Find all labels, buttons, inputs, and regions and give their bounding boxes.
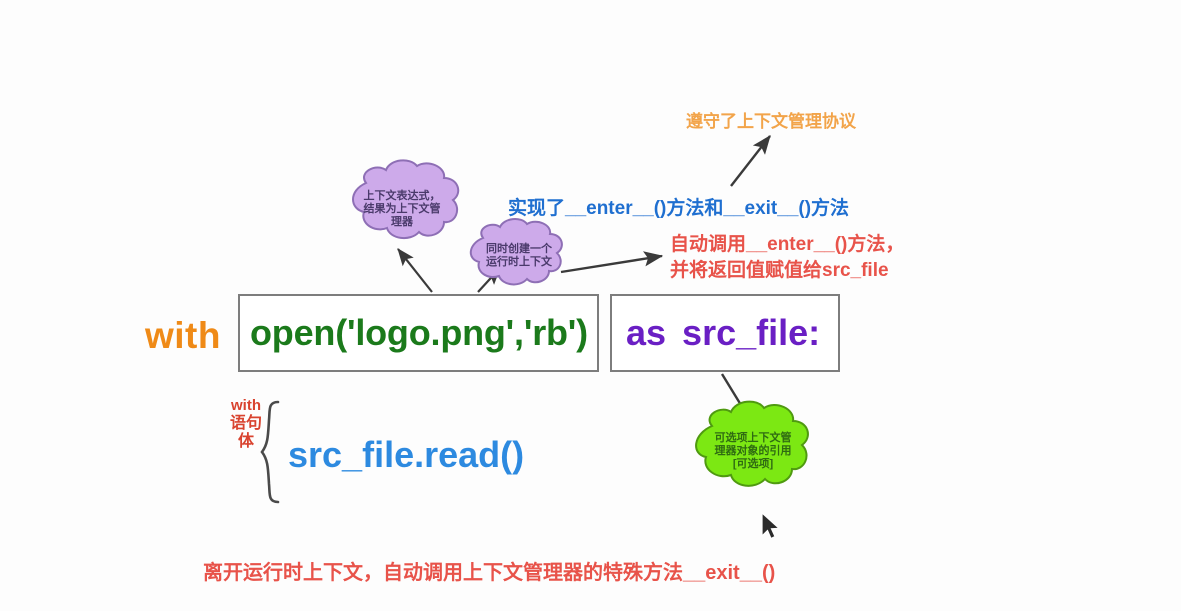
context-expression-cloud-label: 上下文表达式， 结果为上下文管 理器 — [348, 190, 456, 229]
optional-reference-cloud-label: 可选项上下文管 理器对象的引用 [可选项] — [697, 432, 809, 471]
context-expression-box: open('logo.png','rb') — [238, 294, 599, 372]
annotation-methods: 实现了__enter__()方法和__exit__()方法 — [508, 193, 849, 220]
optional-reference-cloud-shape — [696, 402, 808, 486]
mouse-cursor — [762, 513, 779, 539]
as-target-code: assrc_file: — [626, 312, 820, 354]
with-body-statement: src_file.read() — [288, 434, 524, 476]
context-expression-cloud-shape — [353, 160, 458, 238]
brace-label-with: with — [231, 397, 261, 414]
arrow-to-enter-call — [561, 256, 662, 272]
target-variable: src_file: — [682, 312, 820, 353]
runtime-context-cloud-label: 同时创建一个 运行时上下文 — [472, 243, 566, 269]
annotation-enter-call: 自动调用__enter__()方法， 并将返回值赋值给src_file — [670, 232, 904, 283]
keyword-with: with — [145, 315, 221, 357]
arrow-to-runtime-cloud — [478, 268, 500, 292]
annotation-enter-call-line2: 并将返回值赋值给src_file — [670, 258, 904, 284]
annotation-enter-call-line1: 自动调用__enter__()方法， — [670, 232, 904, 258]
context-expression-code: open('logo.png','rb') — [250, 312, 588, 354]
with-body-brace-label: with 语句 体 — [226, 398, 266, 451]
arrow-to-context-cloud — [398, 249, 432, 292]
runtime-context-cloud-shape — [471, 219, 562, 284]
arrow-to-protocol — [731, 136, 770, 186]
annotation-protocol: 遵守了上下文管理协议 — [686, 107, 856, 132]
as-target-box: assrc_file: — [610, 294, 840, 372]
brace-label-vertical: 语句 体 — [226, 415, 266, 451]
annotation-exit-call: 离开运行时上下文，自动调用上下文管理器的特殊方法__exit__() — [203, 556, 775, 585]
arrow-to-optional-cloud — [722, 374, 752, 423]
keyword-as: as — [626, 312, 666, 353]
diagram-canvas: 上下文表达式， 结果为上下文管 理器 同时创建一个 运行时上下文 可选项上下文管… — [0, 0, 1181, 611]
